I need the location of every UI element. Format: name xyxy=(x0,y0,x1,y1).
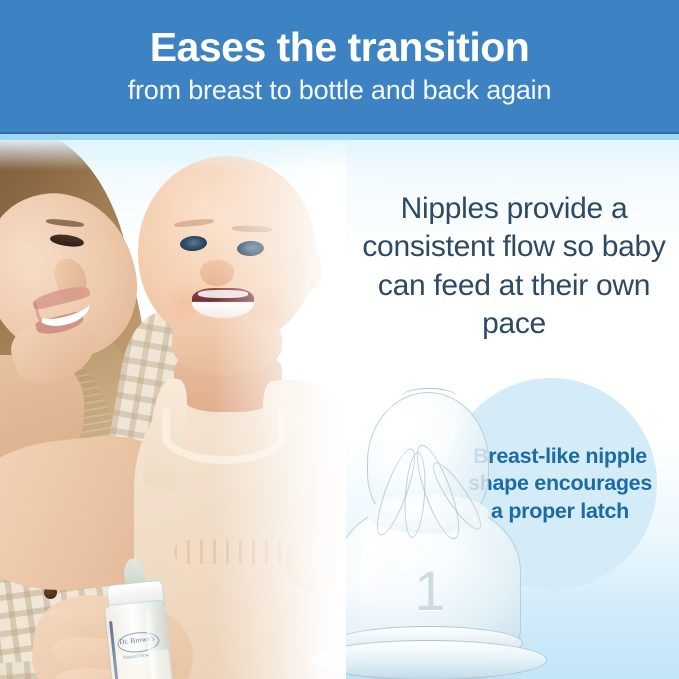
header-subtitle: from breast to bottle and back again xyxy=(128,75,552,106)
product-nipple-image: 1 xyxy=(305,390,555,650)
nipple-flange xyxy=(309,640,547,679)
nipple-tip-highlight xyxy=(401,388,457,406)
product-feature-poster: Eases the transition from breast to bott… xyxy=(0,0,679,679)
baby-nose xyxy=(200,260,234,286)
feature-description: Nipples provide a consistent flow so bab… xyxy=(354,190,674,344)
lifestyle-photo: Dr. Brown's Natural Flow xyxy=(0,140,346,679)
photo-composite: Dr. Brown's Natural Flow xyxy=(0,140,346,679)
baby-romper-neckline xyxy=(162,408,286,464)
nipple-flow-level-number: 1 xyxy=(305,558,555,623)
content-canvas: Dr. Brown's Natural Flow Nipples provide… xyxy=(0,140,679,679)
nipple-highlight-upper xyxy=(381,406,407,478)
header-title: Eases the transition xyxy=(150,27,530,68)
baby-upper-teeth xyxy=(198,290,248,298)
header-banner: Eases the transition from breast to bott… xyxy=(0,0,679,132)
header-accent-strip xyxy=(0,134,679,140)
